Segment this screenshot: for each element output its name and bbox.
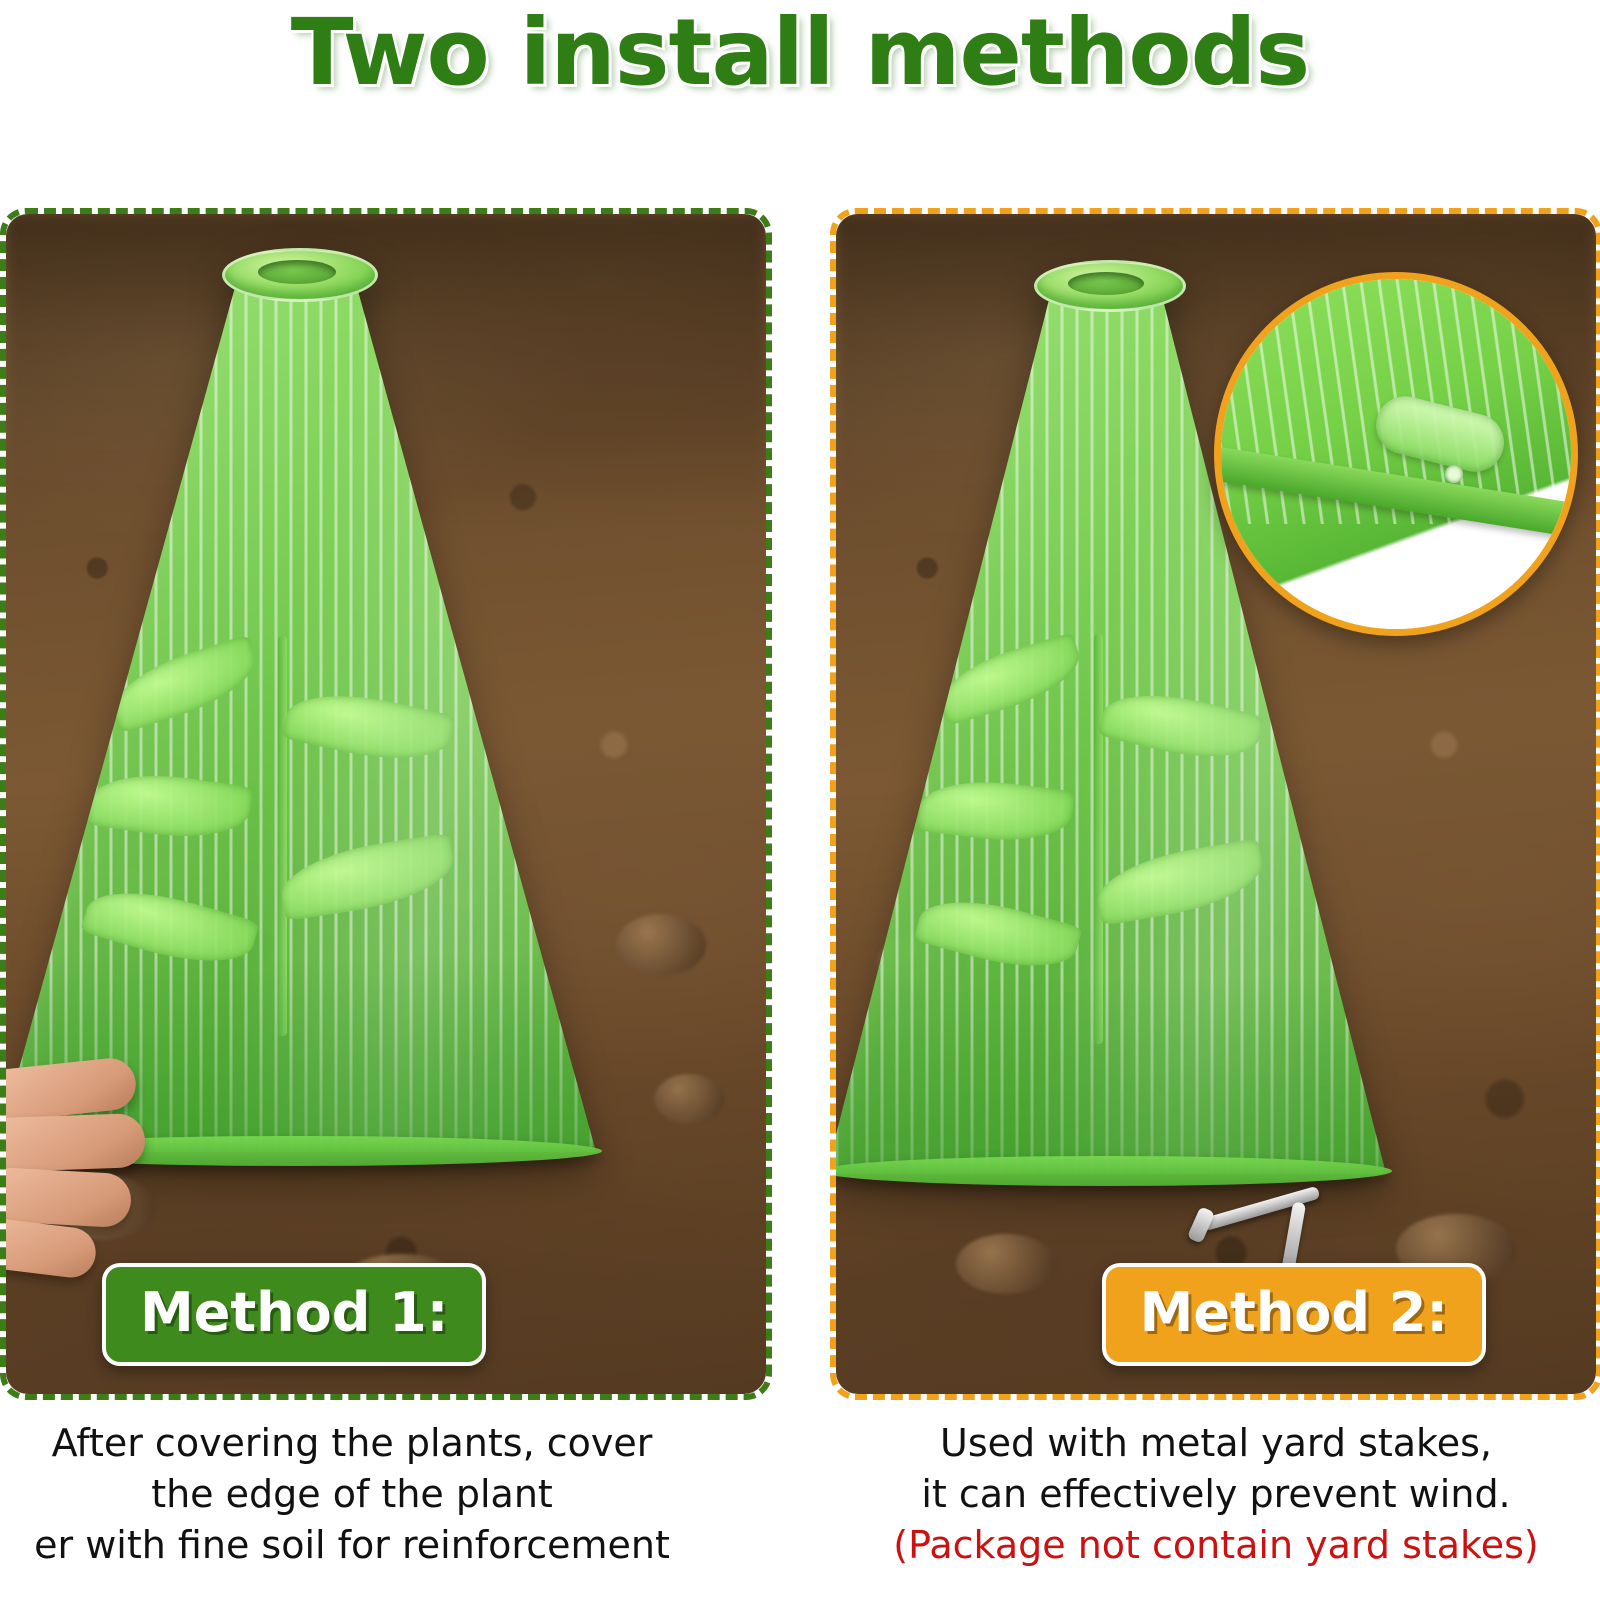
method-1-photo: Method 1: <box>6 214 766 1394</box>
caption-line: er with fine soil for reinforcement <box>0 1520 732 1571</box>
soil-clod <box>616 914 706 976</box>
zoom-bubble-content <box>1221 279 1571 629</box>
method-1-badge: Method 1: <box>102 1263 486 1366</box>
finger <box>6 1166 132 1229</box>
caption-line: the edge of the plant <box>0 1469 732 1520</box>
cloche-vent-hole <box>258 260 336 284</box>
method-2-photo: Method 2: <box>836 214 1596 1394</box>
caption-line: After covering the plants, cover <box>0 1418 732 1469</box>
method-2-panel: Method 2: <box>830 208 1600 1400</box>
page-title: Two install methods <box>0 2 1600 103</box>
detail-zoom-bubble <box>1214 272 1578 636</box>
soil-clod <box>956 1234 1056 1294</box>
stake-slot-hole <box>1445 465 1463 483</box>
finger <box>6 1113 146 1173</box>
method-1-caption: After covering the plants, cover the edg… <box>0 1418 732 1571</box>
soil-clod <box>654 1074 724 1124</box>
caption-line: Used with metal yard stakes, <box>836 1418 1596 1469</box>
cloche-base-shade <box>836 976 1386 1174</box>
metal-yard-stake <box>1191 1184 1341 1274</box>
method-2-badge: Method 2: <box>1102 1263 1486 1366</box>
caption-line: it can effectively prevent wind. <box>836 1469 1596 1520</box>
method-1-panel: Method 1: <box>0 208 772 1400</box>
cloche-cone-body <box>6 262 596 1152</box>
cloche-vent-hole <box>1068 272 1144 295</box>
cloche-bottom-rim <box>836 1156 1392 1186</box>
package-note: (Package not contain yard stakes) <box>836 1520 1596 1571</box>
plant-cloche <box>6 262 596 1152</box>
method-2-caption: Used with metal yard stakes, it can effe… <box>836 1418 1596 1571</box>
